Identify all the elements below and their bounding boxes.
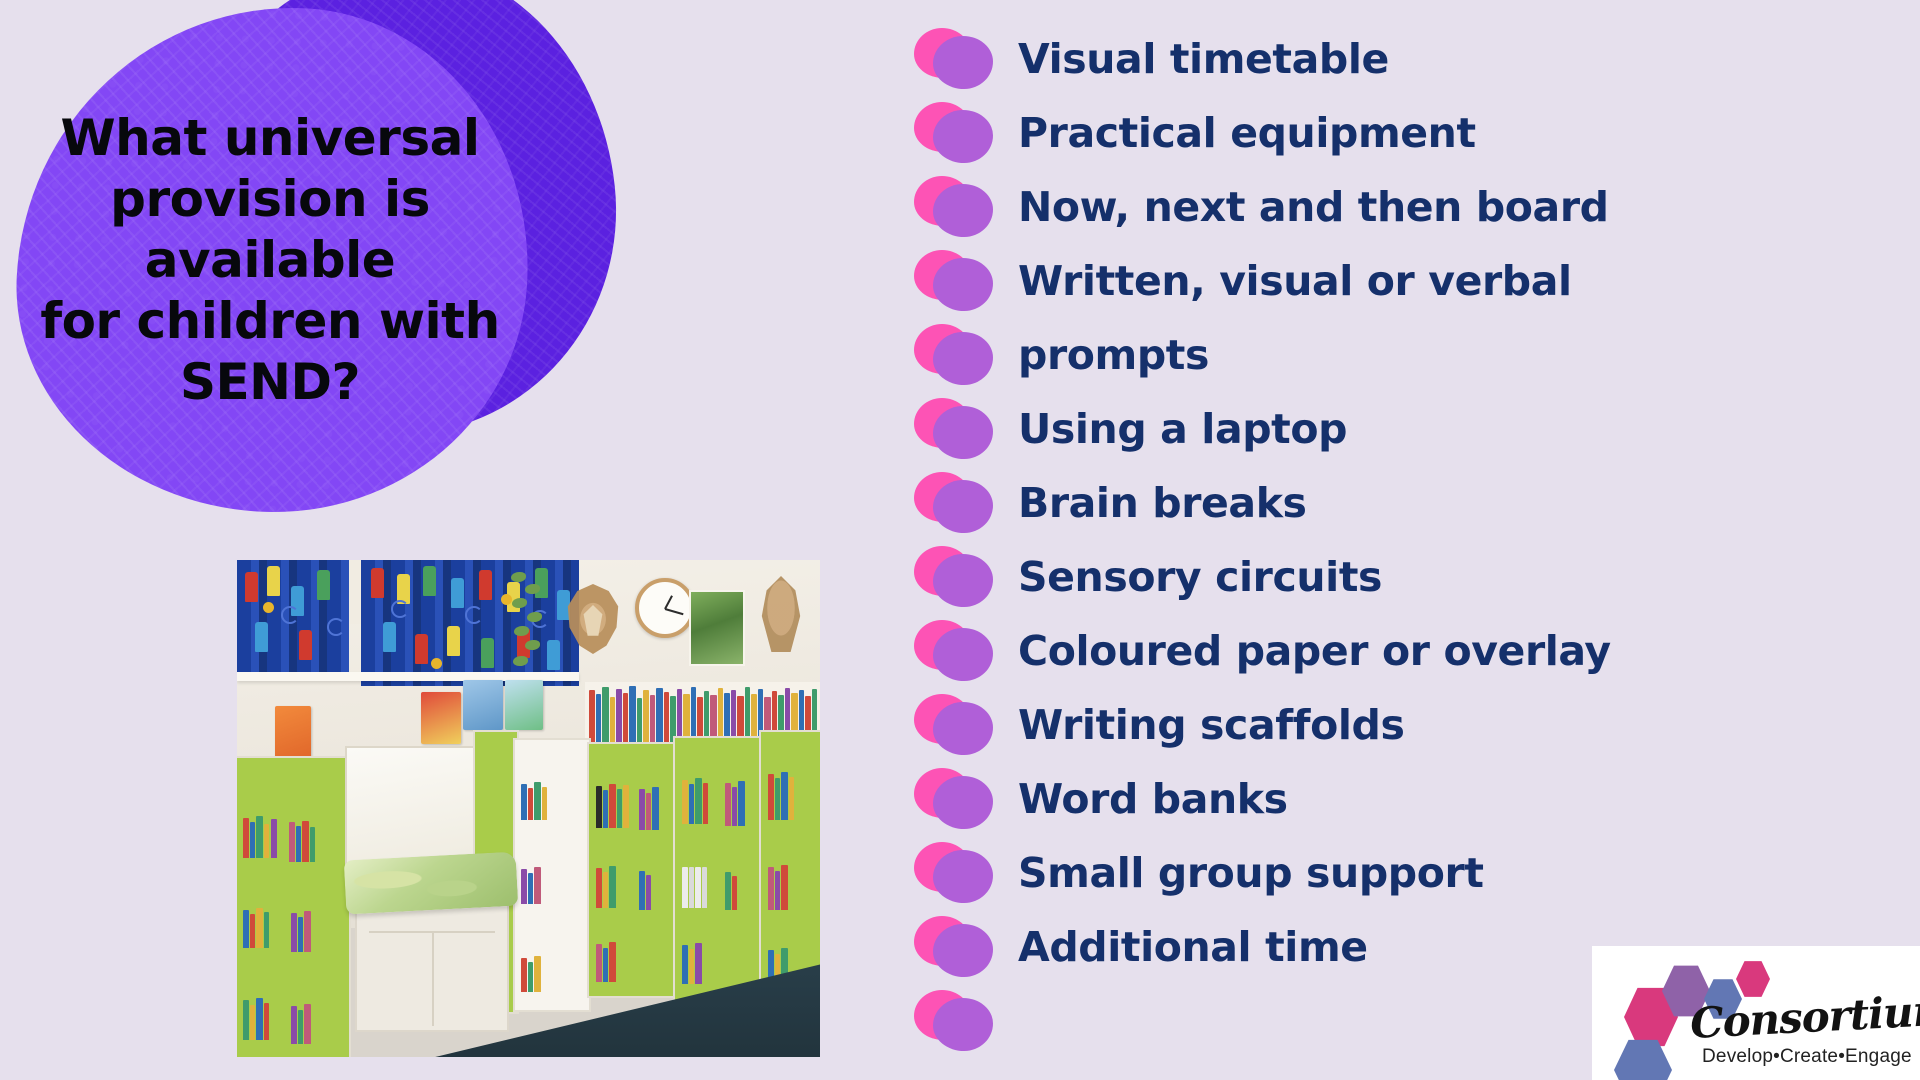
consortium-logo: Consortium Develop•Create•Engage bbox=[1592, 946, 1920, 1080]
slide-canvas: What universal provision is available fo… bbox=[0, 0, 1920, 1080]
bullet-purple-circle bbox=[933, 924, 993, 977]
blob-bullet-icon bbox=[914, 546, 998, 608]
blob-bullet-icon bbox=[914, 398, 998, 460]
list-item-label: Small group support bbox=[1018, 836, 1484, 910]
photo-display-book-blue bbox=[463, 680, 503, 730]
photo-display-book-snowglobe bbox=[421, 692, 461, 744]
photo-jungle-cushion bbox=[344, 852, 519, 915]
photo-bookcase-left bbox=[237, 756, 351, 1057]
blob-bullet-icon bbox=[914, 102, 998, 164]
list-item-label: Writing scaffolds bbox=[1018, 688, 1404, 762]
blob-bullet-icon bbox=[914, 694, 998, 756]
bullet-purple-circle bbox=[933, 110, 993, 163]
list-item-label: Coloured paper or overlay bbox=[1018, 614, 1611, 688]
photo-trailing-plant bbox=[509, 568, 543, 680]
list-item: Using a laptop bbox=[900, 392, 1900, 466]
list-item-label: Using a laptop bbox=[1018, 392, 1347, 466]
list-item: Practical equipment bbox=[900, 96, 1900, 170]
list-item: Brain breaks bbox=[900, 466, 1900, 540]
blob-bullet-icon bbox=[914, 916, 998, 978]
page-title: What universal provision is available fo… bbox=[10, 108, 530, 413]
library-photo-image bbox=[237, 560, 820, 1057]
blob-bullet-icon bbox=[914, 472, 998, 534]
bullet-purple-circle bbox=[933, 36, 993, 89]
bullet-purple-circle bbox=[933, 554, 993, 607]
list-item-label: Now, next and then board bbox=[1018, 170, 1609, 244]
photo-bookcase-right-b bbox=[673, 736, 765, 1002]
bullet-purple-circle bbox=[933, 628, 993, 681]
photo-bookcase-right-a bbox=[587, 742, 679, 998]
list-item: Written, visual or verbal bbox=[900, 244, 1900, 318]
list-item: Writing scaffolds bbox=[900, 688, 1900, 762]
bullet-purple-circle bbox=[933, 702, 993, 755]
blob-bullet-icon bbox=[914, 176, 998, 238]
hexagon-pink-small bbox=[1736, 960, 1770, 998]
bullet-purple-circle bbox=[933, 258, 993, 311]
photo-bookcase-centre-right bbox=[513, 738, 591, 1012]
list-item: Coloured paper or overlay bbox=[900, 614, 1900, 688]
blob-bullet-icon bbox=[914, 620, 998, 682]
list-item-label: Sensory circuits bbox=[1018, 540, 1382, 614]
blob-bullet-icon bbox=[914, 768, 998, 830]
bullet-purple-circle bbox=[933, 184, 993, 237]
photo-jungle-poster bbox=[689, 590, 745, 666]
photo-display-book-unicorn bbox=[275, 706, 311, 760]
photo-display-book-green bbox=[505, 680, 543, 730]
bullet-purple-circle bbox=[933, 776, 993, 829]
blob-bullet-icon bbox=[914, 28, 998, 90]
blob-bullet-icon bbox=[914, 324, 998, 386]
list-item: Now, next and then board bbox=[900, 170, 1900, 244]
list-item-label: Practical equipment bbox=[1018, 96, 1476, 170]
list-item: Visual timetable bbox=[900, 22, 1900, 96]
bullet-purple-circle bbox=[933, 480, 993, 533]
list-item-continuation: prompts bbox=[900, 318, 1900, 392]
provision-list: Visual timetable Practical equipment Now… bbox=[900, 22, 1900, 1058]
list-item-label: Brain breaks bbox=[1018, 466, 1307, 540]
list-item: Small group support bbox=[900, 836, 1900, 910]
logo-tagline: Develop•Create•Engage bbox=[1702, 1046, 1912, 1068]
bullet-purple-circle bbox=[933, 850, 993, 903]
bullet-purple-circle bbox=[933, 998, 993, 1051]
list-item: Word banks bbox=[900, 762, 1900, 836]
photo-curtain-right bbox=[361, 560, 579, 686]
list-item: Sensory circuits bbox=[900, 540, 1900, 614]
blob-bullet-icon bbox=[914, 990, 998, 1052]
library-photo bbox=[237, 560, 820, 1057]
list-item-label: Written, visual or verbal bbox=[1018, 244, 1572, 318]
bullet-purple-circle bbox=[933, 406, 993, 459]
photo-window-frame bbox=[349, 560, 361, 624]
photo-curtain-left bbox=[237, 560, 349, 672]
photo-wall-clock bbox=[635, 578, 695, 638]
bullet-purple-circle bbox=[933, 332, 993, 385]
list-item-label: Word banks bbox=[1018, 762, 1288, 836]
list-item-label: Additional time bbox=[1018, 910, 1368, 984]
list-item-label: prompts bbox=[1018, 318, 1209, 392]
list-item-label: Visual timetable bbox=[1018, 22, 1389, 96]
blob-bullet-icon bbox=[914, 250, 998, 312]
blob-bullet-icon bbox=[914, 842, 998, 904]
